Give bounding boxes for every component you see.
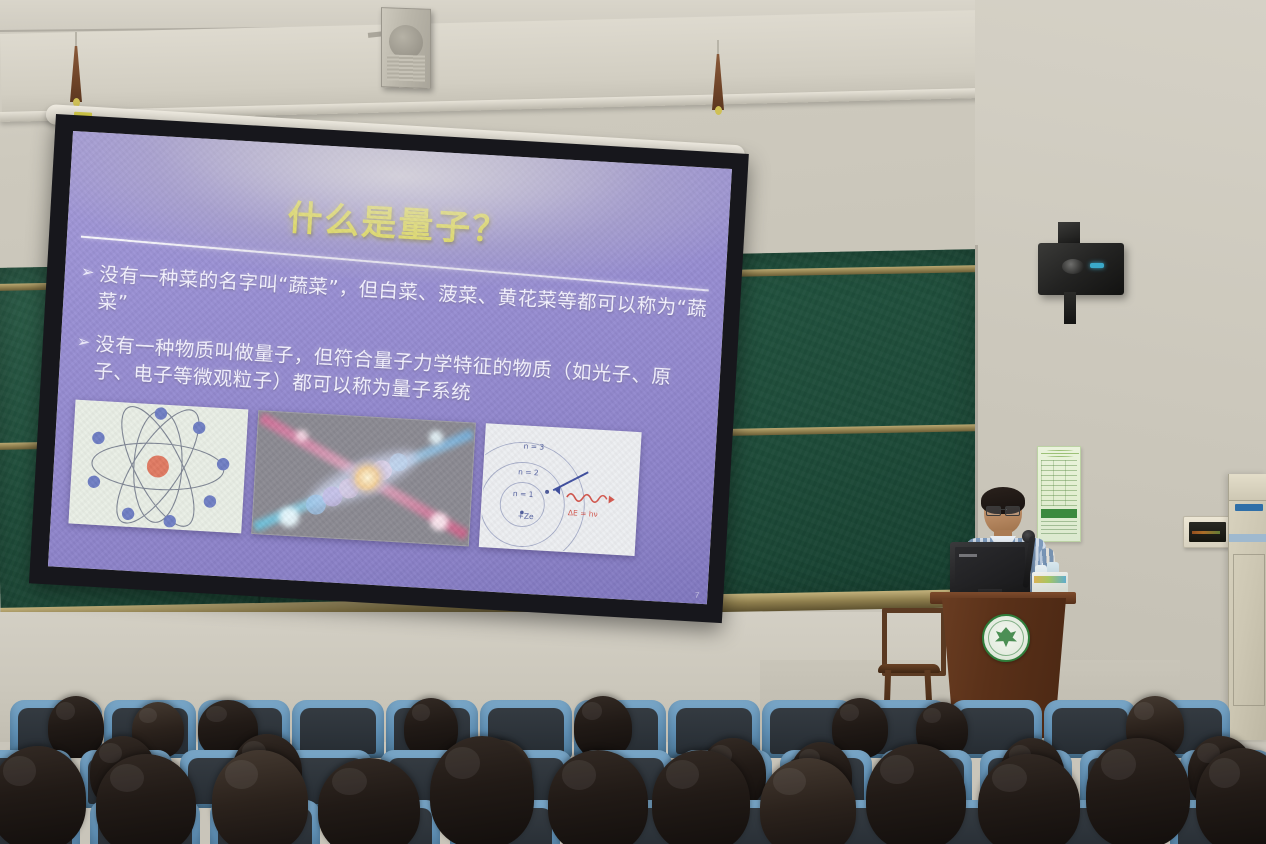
glasses-right-lens — [1005, 506, 1020, 516]
switch-panel-display — [1189, 522, 1226, 542]
device-mount-arm — [1064, 292, 1076, 324]
projection-surface: 什么是量子？ ➢ 没有一种菜的名字叫“蔬菜”，但白菜、菠菜、黄花菜等都可以称为“… — [48, 131, 732, 604]
ceiling-speaker-icon — [381, 7, 431, 89]
svg-text:n = 2: n = 2 — [518, 467, 539, 477]
audience-head — [1086, 738, 1190, 844]
speaker-grill — [387, 54, 425, 81]
svg-text:+Ze: +Ze — [517, 511, 534, 521]
audience-head — [978, 754, 1080, 844]
presentation-slide: 什么是量子？ ➢ 没有一种菜的名字叫“蔬菜”，但白菜、菠菜、黄花菜等都可以称为“… — [48, 131, 732, 604]
wall-projector-icon — [1038, 243, 1124, 295]
audience-head — [548, 750, 648, 844]
podium-monitor[interactable] — [950, 542, 1030, 596]
particle-beam-figure — [251, 410, 476, 546]
projector-lens-icon — [1062, 259, 1084, 274]
status-led-icon — [1090, 263, 1104, 268]
lecture-hall-photo: 什么是量子？ ➢ 没有一种菜的名字叫“蔬菜”，但白菜、菠菜、黄花菜等都可以称为“… — [0, 0, 1266, 844]
projector-screen: 什么是量子？ ➢ 没有一种菜的名字叫“蔬菜”，但白菜、菠菜、黄花菜等都可以称为“… — [29, 114, 749, 623]
monitor-brand-label — [959, 554, 977, 557]
atom-diagram-icon — [70, 401, 248, 533]
tassel-cord — [717, 40, 719, 56]
audience-head — [96, 754, 196, 844]
monitor-screen — [955, 547, 1025, 584]
cabinet-top — [1229, 474, 1266, 501]
atom-diagram-figure — [68, 400, 248, 534]
arrow-bullet-icon: ➢ — [76, 331, 91, 354]
energy-level-diagram-icon: n = 3 n = 2 n = 1 +Ze ΔE = hν — [480, 424, 641, 555]
particle-collision-icon — [252, 411, 475, 545]
tassel-bead — [715, 106, 722, 115]
slide-title: 什么是量子？ — [67, 177, 729, 266]
svg-text:n = 1: n = 1 — [513, 489, 534, 499]
cabinet-strip — [1229, 534, 1266, 542]
svg-text:n = 3: n = 3 — [523, 441, 544, 451]
audience-head — [652, 750, 750, 844]
tassel-cord — [75, 32, 77, 48]
audience-head — [212, 750, 308, 844]
poster-header — [1041, 450, 1079, 457]
audience-head — [430, 736, 534, 844]
glasses-left-lens — [986, 506, 1001, 516]
slide-page-number: 7 — [695, 591, 700, 600]
wall-switch-panel[interactable] — [1183, 516, 1232, 548]
energy-level-figure: n = 3 n = 2 n = 1 +Ze ΔE = hν — [479, 423, 642, 556]
audience-area — [0, 669, 1266, 844]
cabinet-badge — [1235, 504, 1263, 511]
svg-text:ΔE = hν: ΔE = hν — [568, 508, 598, 519]
glasses-icon — [986, 506, 1020, 514]
device-mount-bracket — [1058, 222, 1080, 244]
audience-head — [866, 744, 966, 844]
arrow-bullet-icon: ➢ — [80, 261, 95, 284]
university-emblem-icon — [982, 614, 1030, 662]
